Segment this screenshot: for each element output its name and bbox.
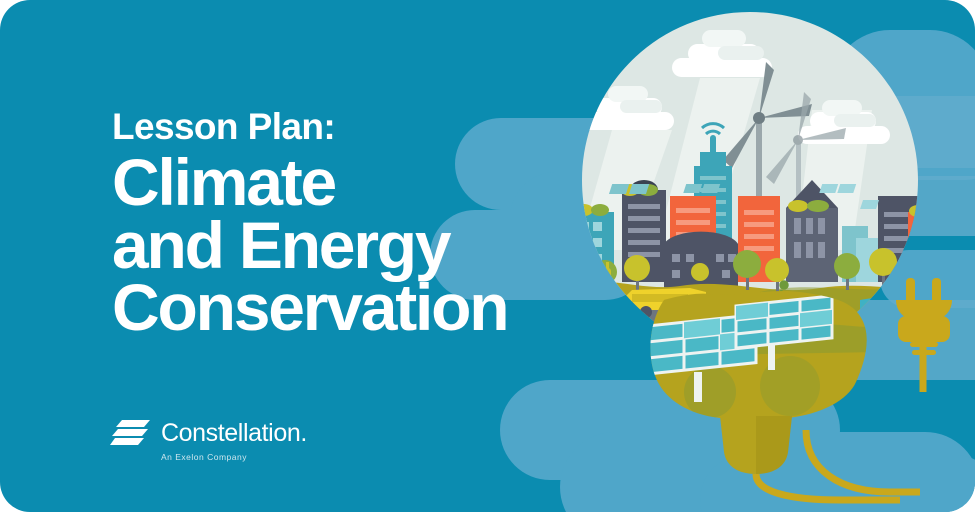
constellation-chevron-mark — [110, 418, 152, 448]
headline-block: Lesson Plan: Climate and Energy Conserva… — [112, 108, 582, 339]
logo-tagline: An Exelon Company — [161, 452, 307, 462]
constellation-logo[interactable]: Constellation. An Exelon Company — [110, 418, 307, 462]
rooftop-solar-panel — [860, 200, 879, 209]
bulb-base — [648, 291, 900, 500]
lightbulb-city-illustration — [560, 0, 975, 512]
lesson-plan-banner: Lesson Plan: Climate and Energy Conserva… — [0, 0, 975, 512]
logo-wordmark: Constellation. — [161, 421, 307, 446]
tree — [593, 260, 617, 294]
kicker-text: Lesson Plan: — [112, 108, 582, 145]
page-title: Climate and Energy Conservation — [112, 151, 582, 339]
